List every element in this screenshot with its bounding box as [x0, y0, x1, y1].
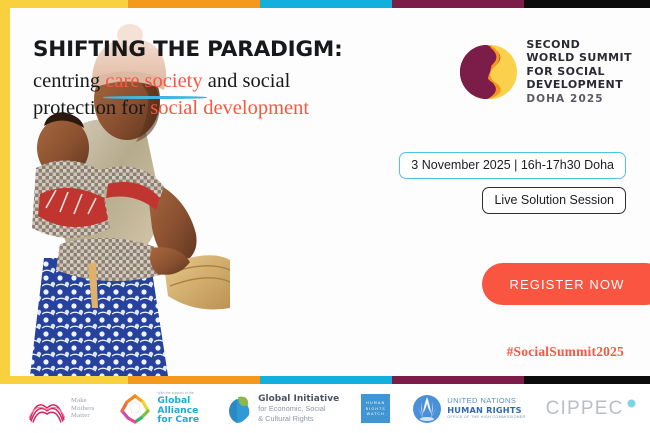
session-type-chip: Live Solution Session — [482, 187, 626, 214]
un-line2: HUMAN RIGHTS — [447, 406, 525, 415]
event-promo-poster: SHIFTING THE PARADIGM: centring care soc… — [0, 0, 650, 433]
make-mothers-matter-icon — [28, 394, 66, 424]
summit-logo-line2: WORLD SUMMIT — [526, 51, 632, 64]
summit-logo-line1: SECOND — [526, 38, 632, 51]
partner-logo-bar: Make Mothers Matter Wi — [0, 384, 650, 433]
cippec-dot-icon — [627, 399, 636, 408]
color-segment-maroon-bottom — [392, 376, 524, 384]
partner-logo-global-initiative-escr[interactable]: Global Initiative for Economic, Social &… — [221, 389, 339, 429]
make-mothers-matter-wordmark: Make Mothers Matter — [71, 397, 94, 420]
left-yellow-stripe — [0, 8, 10, 376]
gi-line2: & Cultural Rights — [258, 414, 339, 423]
headline-line3-pre: protection for — [33, 97, 150, 119]
human-rights-watch-icon: HUMAN RIGHTS WATCH — [361, 394, 390, 423]
cippec-wordmark: CIPPEC — [546, 398, 624, 420]
headline-highlight-social-development: social development — [150, 97, 309, 119]
mmm-line1: Make — [71, 397, 94, 405]
global-alliance-for-care-icon — [118, 393, 152, 425]
summit-logo-line4: DEVELOPMENT — [526, 78, 632, 91]
summit-logo-wordmark: SECOND WORLD SUMMIT FOR SOCIAL DEVELOPME… — [526, 38, 632, 105]
color-segment-cyan-bottom — [260, 376, 392, 384]
headline-line2-pre: centring — [33, 70, 105, 92]
hrw-line2: RIGHTS — [366, 407, 386, 411]
summit-logo-mark-icon — [457, 42, 517, 102]
headline-highlight-care-society: care society — [105, 68, 202, 95]
color-segment-maroon — [392, 0, 524, 8]
partner-logo-human-rights-watch[interactable]: HUMAN RIGHTS WATCH — [361, 389, 390, 429]
color-segment-black-bottom — [524, 376, 650, 384]
hrw-line1: HUMAN — [366, 401, 385, 405]
top-color-bar — [0, 0, 650, 8]
event-datetime-chip: 3 November 2025 | 16h-17h30 Doha — [399, 152, 626, 179]
color-segment-cyan — [260, 0, 392, 8]
mmm-line2: Mothers — [71, 405, 94, 413]
headline-line1: SHIFTING THE PARADIGM: — [33, 38, 413, 63]
color-segment-yellow — [0, 0, 128, 8]
register-now-label: REGISTER NOW — [509, 277, 638, 292]
un-human-rights-wordmark: UNITED NATIONS HUMAN RIGHTS OFFICE OF TH… — [447, 397, 525, 419]
register-now-button[interactable]: REGISTER NOW — [482, 263, 650, 305]
gi-title: Global Initiative — [258, 394, 339, 404]
color-segment-black — [524, 0, 650, 8]
color-segment-yellow-bottom — [0, 376, 128, 384]
gac-line3: for Care — [157, 415, 199, 425]
un-human-rights-icon — [412, 393, 442, 425]
headline-line2-post: and social — [203, 70, 291, 92]
mmm-line3: Matter — [71, 412, 94, 420]
global-alliance-for-care-wordmark: With the support of the Global Alliance … — [157, 392, 199, 425]
partner-logo-make-mothers-matter[interactable]: Make Mothers Matter — [28, 389, 94, 429]
summit-logo-line3: FOR SOCIAL — [526, 65, 632, 78]
partner-logo-cippec[interactable]: CIPPEC — [546, 389, 636, 429]
event-info-chips: 3 November 2025 | 16h-17h30 Doha Live So… — [399, 152, 626, 214]
gi-line1: for Economic, Social — [258, 404, 339, 413]
color-segment-orange-bottom — [128, 376, 260, 384]
bottom-color-bar — [0, 376, 650, 384]
un-line3: OFFICE OF THE HIGH COMMISSIONER — [447, 415, 525, 419]
partner-logo-global-alliance-for-care[interactable]: With the support of the Global Alliance … — [118, 389, 199, 429]
headline-block: SHIFTING THE PARADIGM: centring care soc… — [33, 38, 413, 122]
hashtag-text: #SocialSummit2025 — [507, 344, 624, 360]
summit-logo-line5: DOHA 2025 — [526, 93, 632, 106]
partner-logo-un-human-rights[interactable]: UNITED NATIONS HUMAN RIGHTS OFFICE OF TH… — [412, 389, 525, 429]
global-initiative-escr-wordmark: Global Initiative for Economic, Social &… — [258, 394, 339, 423]
hrw-line3: WATCH — [367, 412, 385, 416]
headline-subline: centring care society and social protect… — [33, 68, 413, 122]
global-initiative-escr-icon — [221, 393, 253, 425]
summit-logo: SECOND WORLD SUMMIT FOR SOCIAL DEVELOPME… — [457, 38, 632, 105]
color-segment-orange — [128, 0, 260, 8]
